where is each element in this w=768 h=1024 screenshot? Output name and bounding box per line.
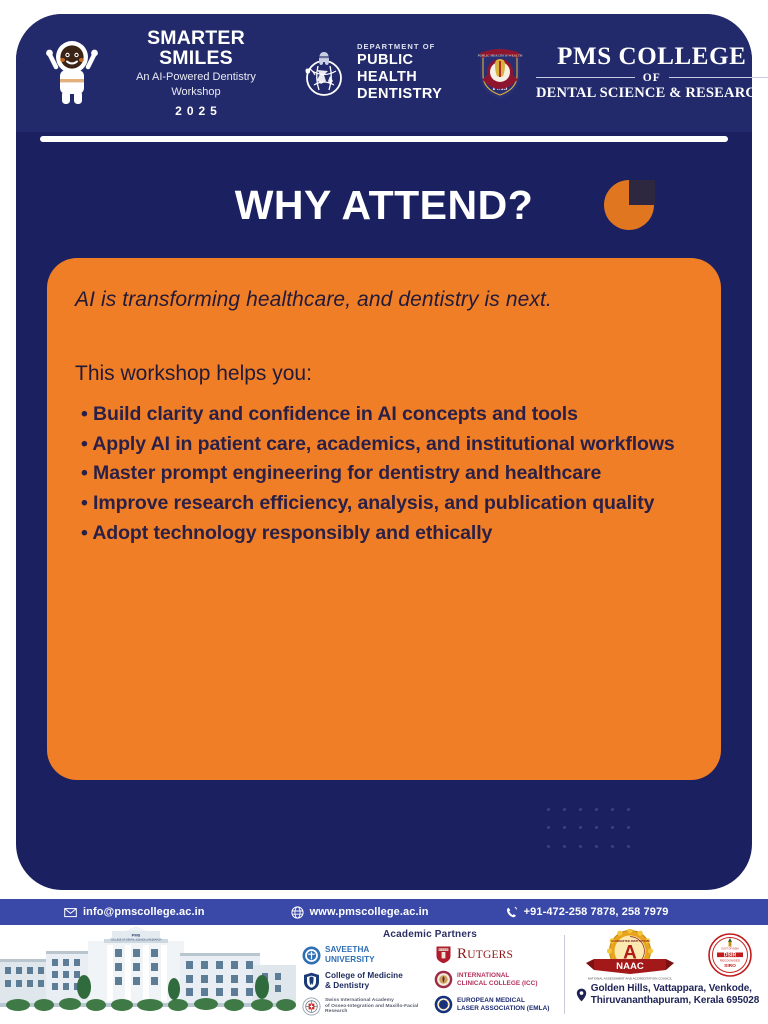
brand-block: SMARTER SMILES An AI-Powered Dentistry W… (108, 28, 278, 118)
content-card: AI is transforming healthcare, and denti… (47, 258, 721, 780)
partner-name: EUROPEAN MEDICALLASER ASSOCIATION (EMLA) (457, 997, 549, 1013)
accreditation-block: ACCREDITED INSTITUTION A NAAC NATIONAL A… (565, 925, 768, 1024)
address-row: Golden Hills, Vattappara, Venkode, Thiru… (574, 983, 759, 1007)
partner-name: INTERNATIONALCLINICAL COLLEGE (ICC) (457, 972, 538, 988)
list-item: • Build clarity and confidence in AI con… (75, 400, 693, 430)
college-of-medicine-dentistry-logo (302, 972, 321, 991)
poster-root: SMARTER SMILES An AI-Powered Dentistry W… (0, 0, 768, 1024)
benefit-list: • Build clarity and confidence in AI con… (75, 400, 693, 548)
svg-text:DSIR: DSIR (723, 952, 736, 958)
address-line1: Golden Hills, Vattappara, Venkode, (591, 983, 759, 995)
intro-line: AI is transforming healthcare, and denti… (75, 288, 693, 312)
location-pin-icon (576, 988, 587, 1002)
svg-text:RECOGNISED: RECOGNISED (719, 959, 740, 963)
partner-name: College of Medicine& Dentistry (325, 971, 403, 991)
pms-college-building-photo: PMS COLLEGE OF DENTAL SCIENCE & RESEARCH (0, 925, 296, 1024)
svg-text:GOVT OF INDIA: GOVT OF INDIA (721, 948, 739, 951)
list-item: • Master prompt engineering for dentistr… (75, 459, 693, 489)
college-of-row: OF (536, 72, 768, 84)
department-line2: HEALTH (357, 69, 442, 86)
rutgers-logo: RUTGERS (434, 945, 453, 964)
contact-email[interactable]: info@pmscollege.ac.in (64, 906, 205, 919)
page-title: WHY ATTEND? (235, 182, 534, 229)
european-medical-laser-association-logo (434, 995, 453, 1014)
partner-college-of-medicine-dentistry: College of Medicine& Dentistry (302, 971, 426, 991)
contact-website[interactable]: www.pmscollege.ac.in (291, 906, 429, 919)
envelope-icon (64, 906, 77, 919)
partners-column-left: SAVEETHAUNIVERSITY College of Medicine& … (302, 945, 426, 1016)
contact-bar: info@pmscollege.ac.in www.pmscollege.ac.… (0, 899, 768, 925)
list-item: • Apply AI in patient care, academics, a… (75, 430, 693, 460)
contact-website-text: www.pmscollege.ac.in (310, 906, 429, 918)
svg-text:PMS: PMS (132, 932, 141, 937)
svg-text:NATIONAL ASSESSMENT AND ACCRED: NATIONAL ASSESSMENT AND ACCREDITATION CO… (587, 977, 672, 981)
phone-icon (505, 906, 518, 919)
contact-email-text: info@pmscollege.ac.in (83, 906, 205, 918)
brand-year: 2025 (114, 104, 278, 118)
astronaut-mascot-icon (42, 37, 102, 109)
header-row: SMARTER SMILES An AI-Powered Dentistry W… (16, 14, 752, 132)
header-divider (40, 136, 728, 142)
list-item: • Improve research efficiency, analysis,… (75, 489, 693, 519)
college-name: PMS COLLEGE (536, 44, 768, 70)
svg-text:RUTGERS: RUTGERS (439, 949, 449, 951)
partner-saveetha-university: SAVEETHAUNIVERSITY (302, 945, 426, 965)
department-text: DEPARTMENT OF PUBLIC HEALTH DENTISTRY (357, 43, 442, 103)
svg-text:PUBLIC HEALTH IS WEALTH: PUBLIC HEALTH IS WEALTH (478, 54, 523, 58)
naac-a-grade-badge: ACCREDITED INSTITUTION A NAAC NATIONAL A… (582, 929, 678, 981)
globe-tooth-icon (300, 47, 348, 99)
list-item: • Adopt technology responsibly and ethic… (75, 519, 693, 549)
partner-swiss-international-academy: Swiss International Academyof Osseo-Inte… (302, 997, 426, 1016)
department-logo-block: DEPARTMENT OF PUBLIC HEALTH DENTISTRY (284, 43, 452, 103)
badges-row: ACCREDITED INSTITUTION A NAAC NATIONAL A… (582, 929, 752, 981)
college-logo-block: PUBLIC HEALTH IS WEALTH PMS PMS COLLEGE … (458, 44, 768, 102)
svg-text:COLLEGE OF DENTAL SCIENCE & RE: COLLEGE OF DENTAL SCIENCE & RESEARCH (111, 939, 162, 942)
contact-phone[interactable]: +91-472-258 7878, 258 7979 (505, 906, 669, 919)
address-line2: Thiruvananthapuram, Kerala 695028 (591, 995, 759, 1007)
contact-phone-text: +91-472-258 7878, 258 7979 (524, 906, 669, 918)
rule-right (669, 77, 768, 79)
partners-columns: SAVEETHAUNIVERSITY College of Medicine& … (296, 945, 564, 1016)
partner-name: RUTGERS (457, 945, 513, 963)
swiss-international-academy-logo (302, 997, 321, 1016)
globe-icon (291, 906, 304, 919)
orange-quadrant-circle-icon (603, 179, 657, 231)
partners-column-right: RUTGERS RUTGERS (434, 945, 558, 1016)
dsir-siro-badge: DSIR RECOGNISED SIRO GOVT OF INDIA (708, 933, 752, 977)
international-clinical-college-logo (434, 970, 453, 989)
rule-left (536, 77, 635, 79)
partner-rutgers: RUTGERS RUTGERS (434, 945, 558, 964)
department-eyebrow: DEPARTMENT OF (357, 43, 442, 52)
dot-grid-decoration (540, 800, 636, 856)
college-text: PMS COLLEGE OF DENTAL SCIENCE & RESEARCH (536, 44, 768, 101)
pms-crest-icon: PUBLIC HEALTH IS WEALTH PMS (474, 44, 526, 102)
partner-european-medical-laser-association: EUROPEAN MEDICALLASER ASSOCIATION (EMLA) (434, 995, 558, 1014)
partner-name: Swiss International Academyof Osseo-Inte… (325, 998, 426, 1016)
saveetha-university-logo (302, 946, 321, 965)
department-line3: DENTISTRY (357, 86, 442, 103)
brand-title: SMARTER SMILES (114, 28, 278, 69)
address-text: Golden Hills, Vattappara, Venkode, Thiru… (591, 983, 759, 1007)
partner-international-clinical-college: INTERNATIONALCLINICAL COLLEGE (ICC) (434, 970, 558, 989)
brand-subtitle-line1: An AI-Powered Dentistry (114, 71, 278, 85)
svg-text:SIRO: SIRO (724, 963, 736, 969)
footer: PMS COLLEGE OF DENTAL SCIENCE & RESEARCH (0, 925, 768, 1024)
svg-text:NAAC: NAAC (616, 961, 644, 972)
partner-name: SAVEETHAUNIVERSITY (325, 945, 375, 965)
department-line1: PUBLIC (357, 52, 442, 69)
brand-subtitle-line2: Workshop (114, 86, 278, 100)
college-department: DENTAL SCIENCE & RESEARCH (536, 85, 768, 102)
partners-title: Academic Partners (296, 929, 564, 940)
lead-in-line: This workshop helps you: (75, 362, 693, 386)
academic-partners: Academic Partners (296, 925, 564, 1024)
college-of: OF (643, 72, 661, 84)
